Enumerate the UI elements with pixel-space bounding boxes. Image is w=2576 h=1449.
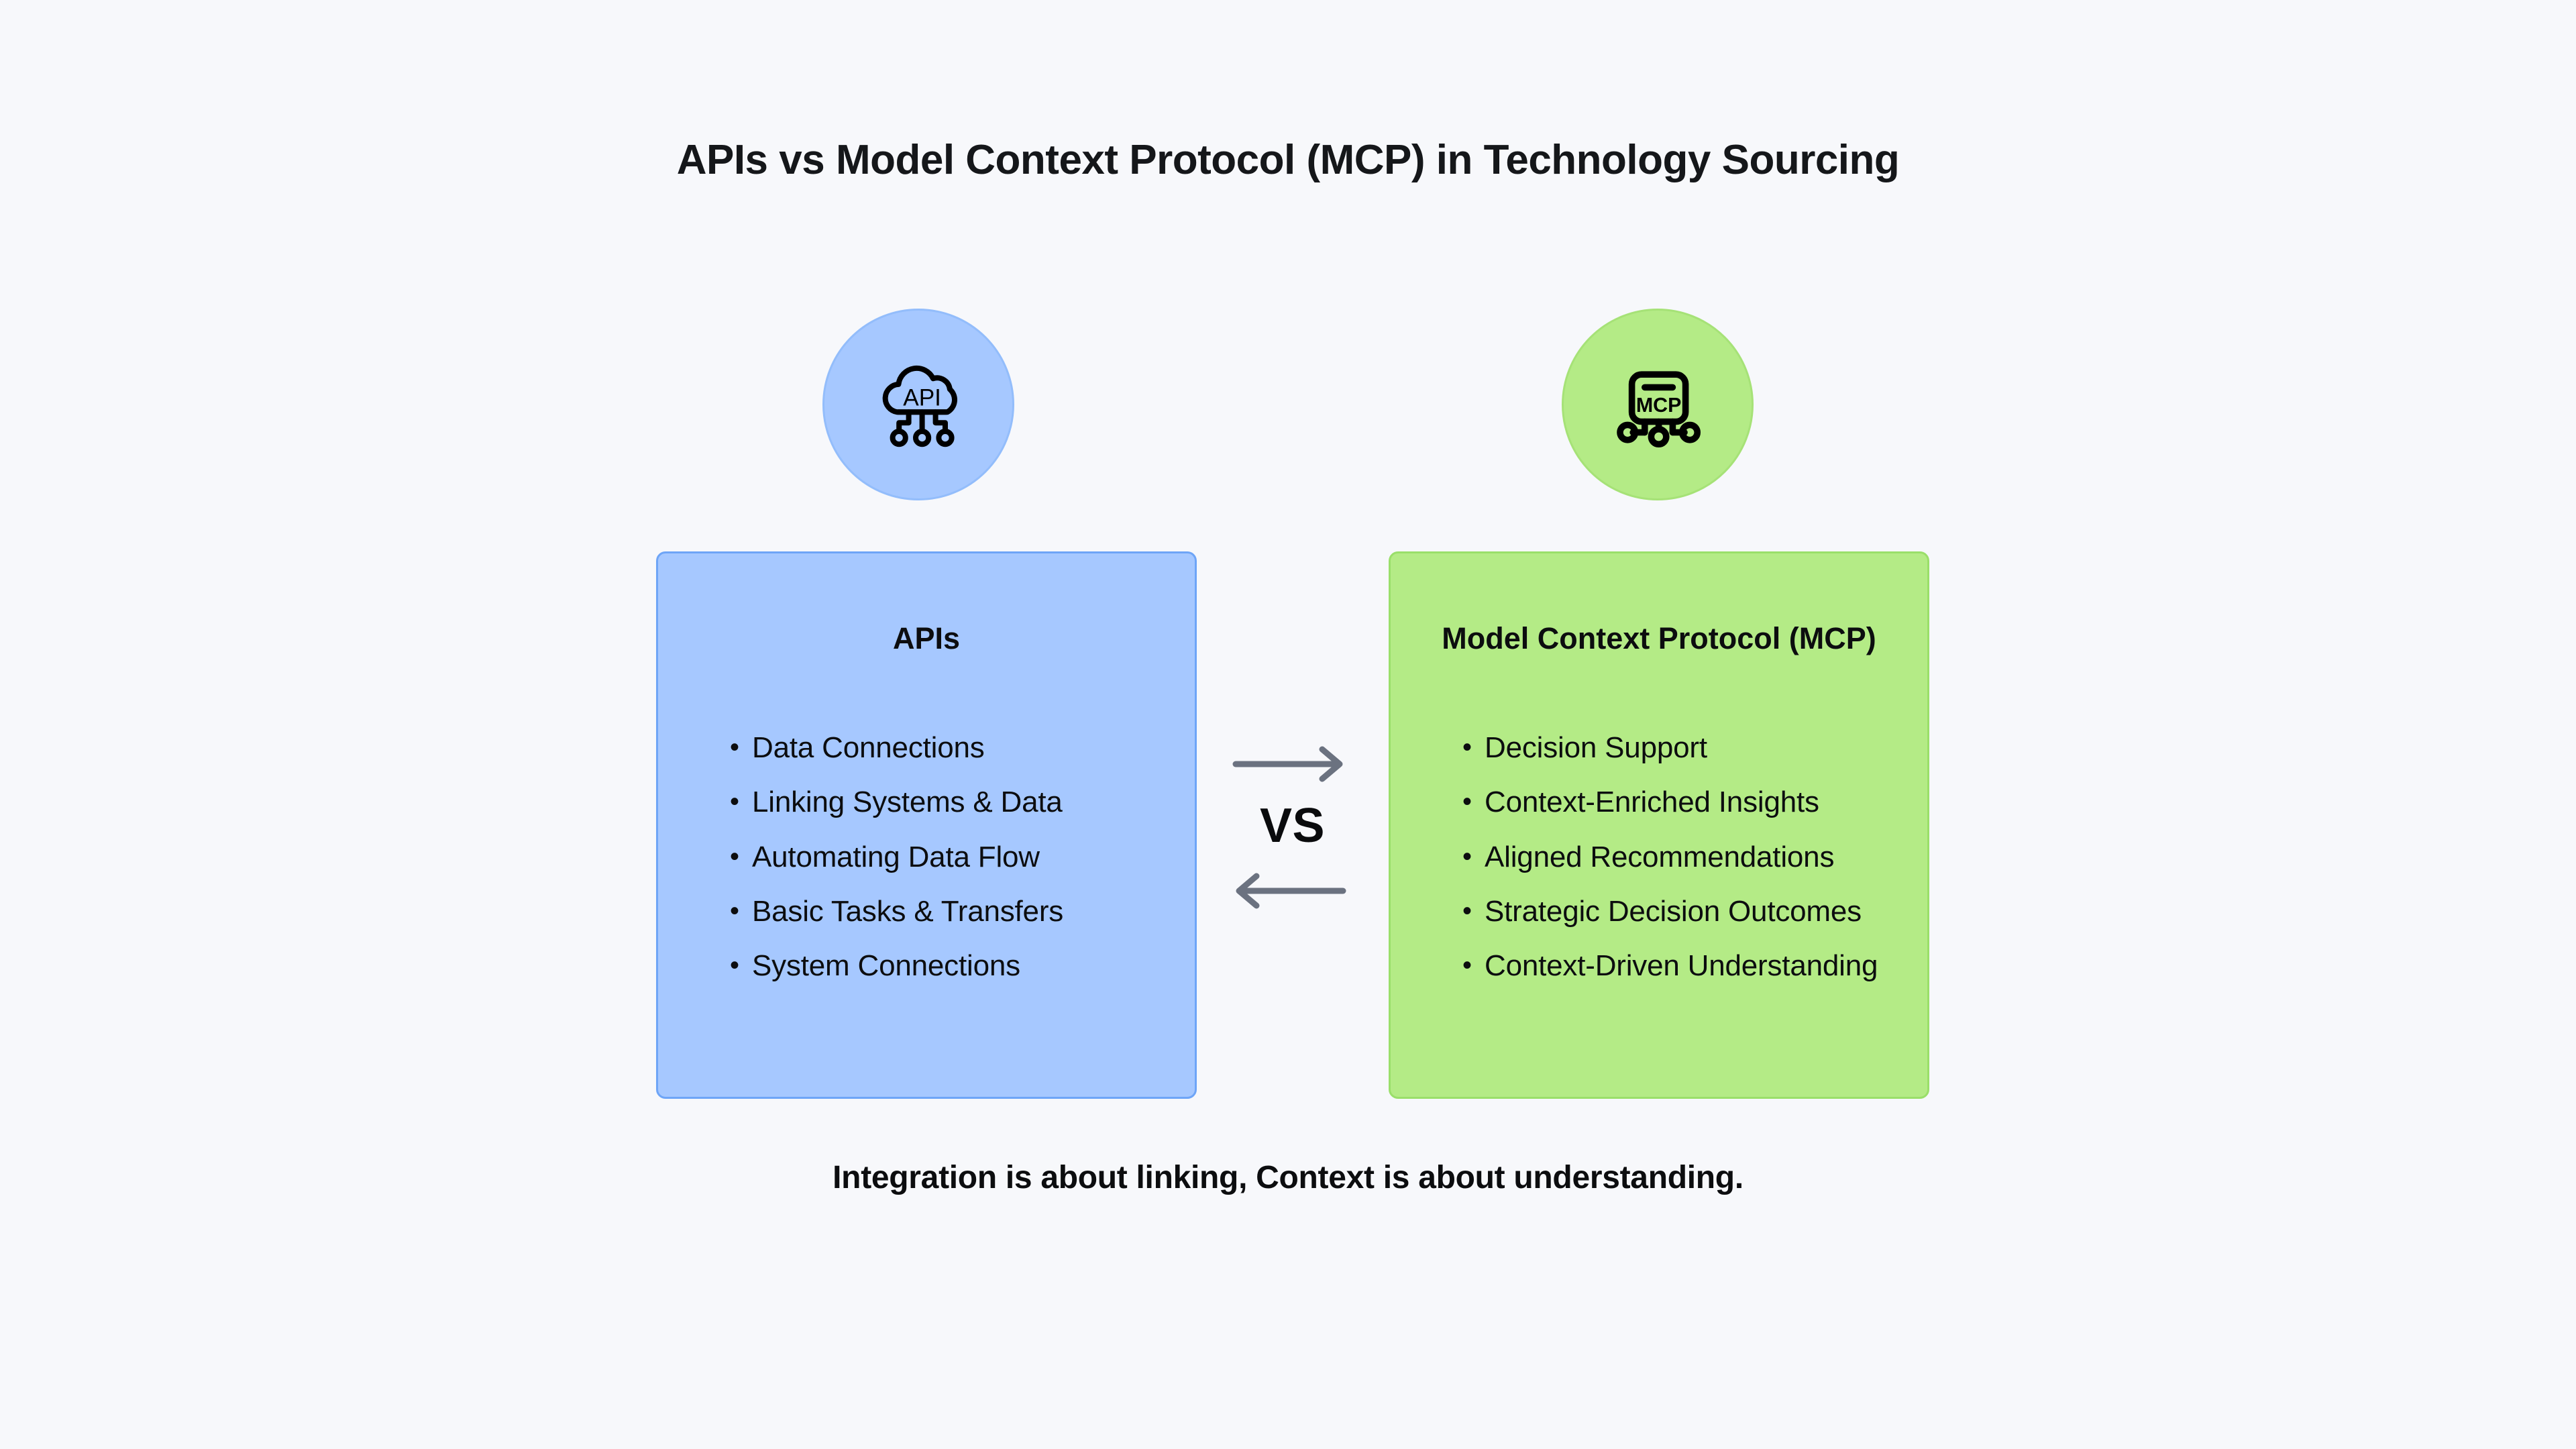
mcp-feature-list: Decision Support Context-Enriched Insigh… (1462, 731, 1900, 1004)
api-card-title: APIs (658, 621, 1195, 656)
list-item: Aligned Recommendations (1462, 841, 1900, 873)
list-item: Context-Enriched Insights (1462, 786, 1900, 818)
list-item: Context-Driven Understanding (1462, 949, 1900, 982)
arrow-right-icon (1232, 745, 1347, 783)
page-title: APIs vs Model Context Protocol (MCP) in … (0, 136, 2576, 184)
mcp-server-network-icon: MCP (1604, 351, 1711, 458)
mcp-card-title: Model Context Protocol (MCP) (1391, 621, 1927, 656)
mcp-icon-badge: MCP (1562, 309, 1754, 500)
list-item: System Connections (730, 949, 1168, 982)
footer-caption: Integration is about linking, Context is… (0, 1159, 2576, 1196)
api-icon-badge: API (822, 309, 1014, 500)
diagram-canvas: APIs vs Model Context Protocol (MCP) in … (0, 0, 2576, 1449)
arrow-left-icon (1232, 872, 1347, 910)
api-feature-list: Data Connections Linking Systems & Data … (730, 731, 1168, 1004)
list-item: Automating Data Flow (730, 841, 1168, 873)
list-item: Linking Systems & Data (730, 786, 1168, 818)
api-icon-text: API (903, 385, 941, 411)
mcp-icon-text: MCP (1636, 394, 1682, 417)
versus-label: VS (1196, 798, 1389, 853)
list-item: Basic Tasks & Transfers (730, 895, 1168, 928)
list-item: Data Connections (730, 731, 1168, 764)
list-item: Decision Support (1462, 731, 1900, 764)
api-card: APIs Data Connections Linking Systems & … (656, 551, 1197, 1099)
list-item: Strategic Decision Outcomes (1462, 895, 1900, 928)
mcp-card: Model Context Protocol (MCP) Decision Su… (1389, 551, 1929, 1099)
versus-block: VS (1196, 738, 1389, 926)
api-cloud-network-icon: API (865, 351, 972, 458)
